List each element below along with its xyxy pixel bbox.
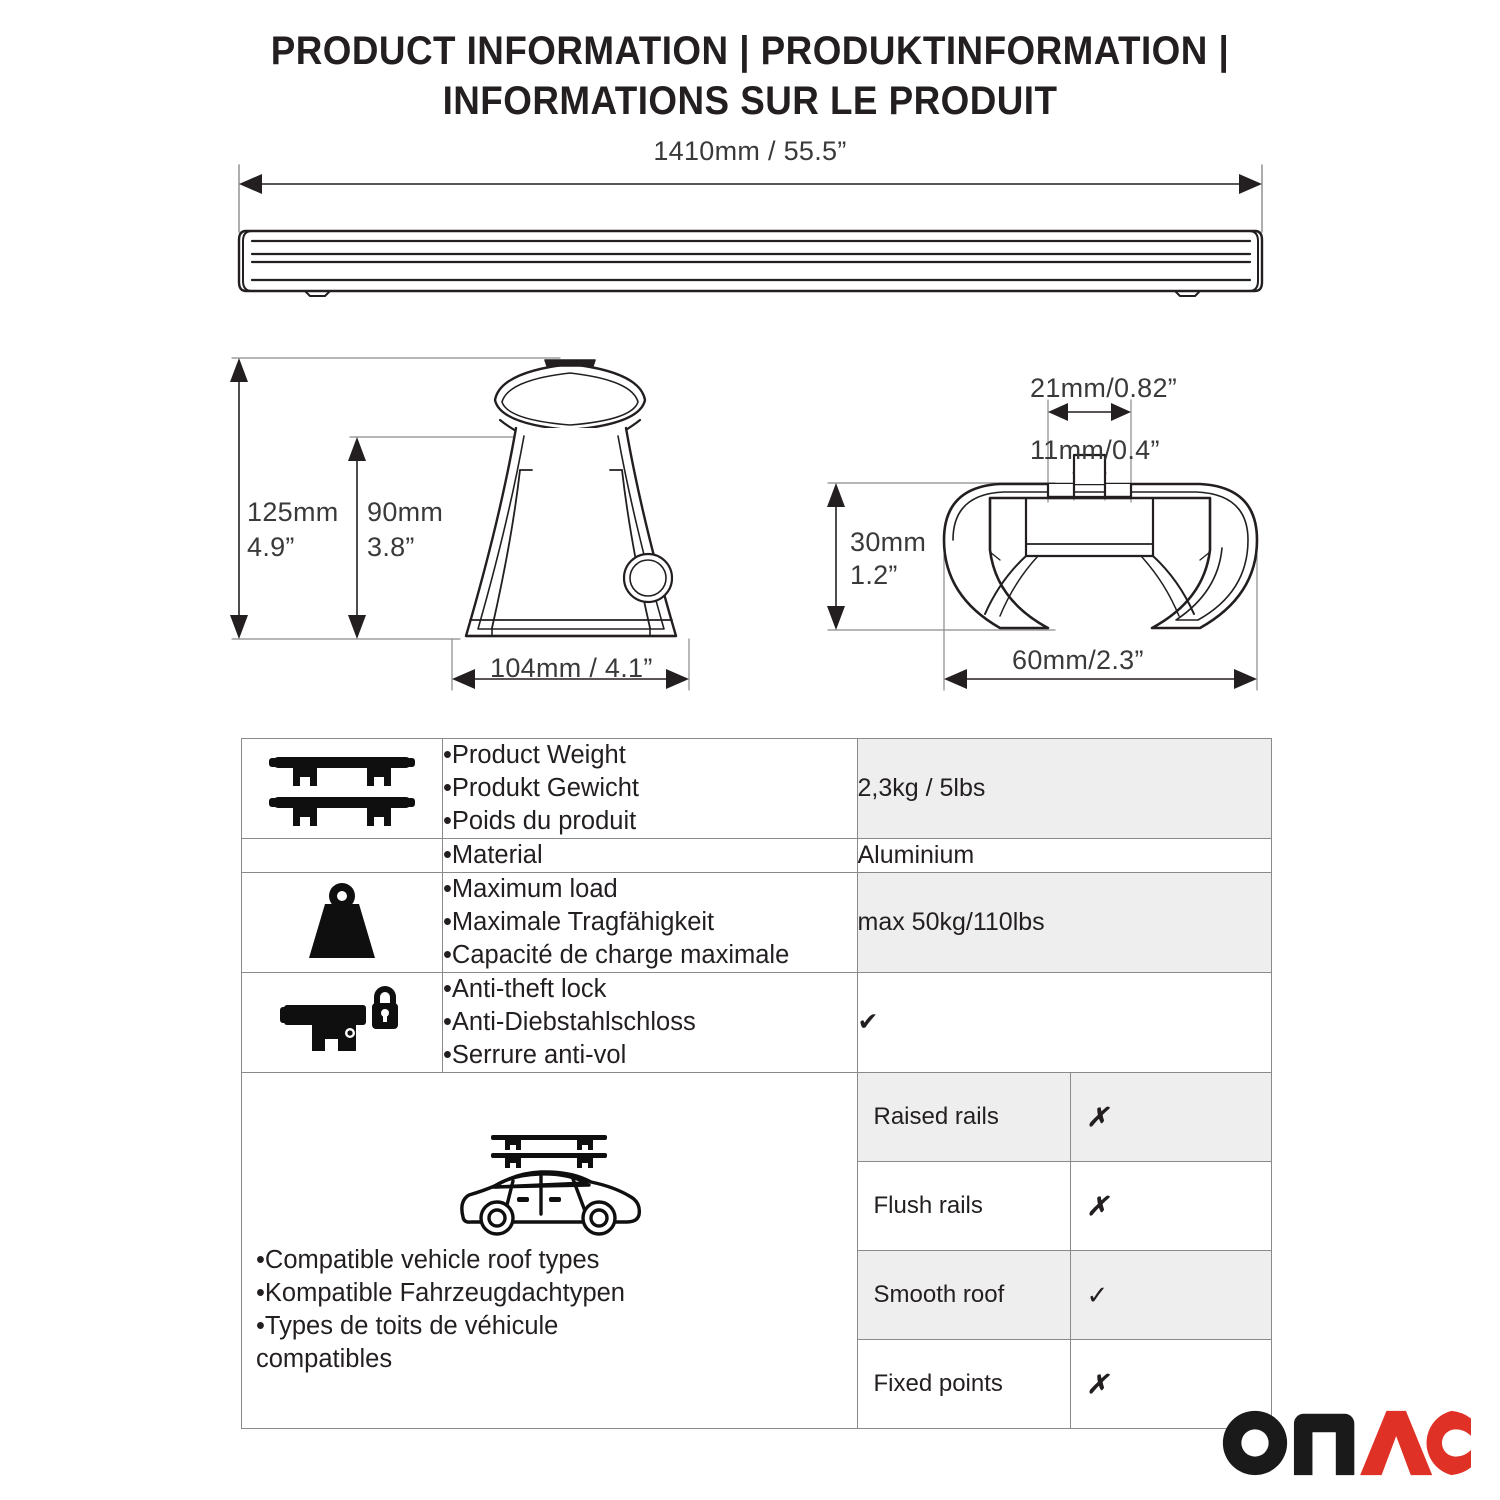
logo-letter-a	[1360, 1411, 1432, 1475]
row-value-product-weight: 2,3kg / 5lbs	[857, 739, 1272, 839]
row-labels: •Product Weight •Produkt Gewicht •Poids …	[443, 739, 857, 838]
roof-type-name: Flush rails	[858, 1162, 1071, 1251]
label-fr: •Poids du produit	[443, 805, 857, 838]
label-fr-2: compatibles	[256, 1343, 857, 1376]
label-en: •Maximum load	[443, 873, 857, 906]
row-icon-cell	[242, 739, 443, 839]
title-line-2: INFORMATIONS SUR LE PRODUIT	[60, 76, 1440, 126]
roof-type-row: Smooth roof ✓	[858, 1251, 1272, 1340]
label-de: •Produkt Gewicht	[443, 772, 857, 805]
omac-logo	[1218, 1404, 1471, 1478]
specification-table: •Product Weight •Produkt Gewicht •Poids …	[241, 738, 1272, 1429]
label-fr: •Capacité de charge maximale	[443, 939, 857, 972]
table-row: •Product Weight •Produkt Gewicht •Poids …	[242, 739, 1272, 839]
row-label-cell: •Product Weight •Produkt Gewicht •Poids …	[443, 739, 858, 839]
page-title: PRODUCT INFORMATION | PRODUKTINFORMATION…	[60, 26, 1440, 126]
roof-types-labels: •Compatible vehicle roof types •Kompatib…	[242, 1244, 857, 1376]
car-with-bars-icon	[242, 1125, 857, 1244]
weight-icon	[242, 880, 442, 966]
dim-total-height-in: 4.9”	[247, 532, 295, 563]
roof-type-mark: ✓	[1070, 1251, 1271, 1340]
row-icon-cell	[242, 873, 443, 973]
roof-type-mark: ✗	[1070, 1162, 1271, 1251]
label-en: •Material	[443, 839, 857, 872]
row-label-cell: •Maximum load •Maximale Tragfähigkeit •C…	[443, 873, 858, 973]
dim-length-label: 1410mm / 55.5”	[0, 136, 1500, 167]
label-fr-1: •Types de toits de véhicule	[256, 1310, 857, 1343]
table-row-roof-types: •Compatible vehicle roof types •Kompatib…	[242, 1073, 1272, 1429]
label-de: •Kompatible Fahrzeugdachtypen	[256, 1277, 857, 1310]
row-label-cell: •Anti-theft lock •Anti-Diebstahlschloss …	[443, 973, 858, 1073]
row-label-cell: •Material	[443, 839, 858, 873]
dim-slot-inner: 11mm/0.4”	[1030, 435, 1160, 466]
roof-bars-icon	[242, 751, 442, 827]
row-labels: •Material	[443, 839, 857, 872]
dim-bar-width: 60mm/2.3”	[1012, 645, 1144, 676]
product-information-page: PRODUCT INFORMATION | PRODUKTINFORMATION…	[0, 0, 1500, 1500]
row-value-anti-theft-lock: ✔	[857, 973, 1272, 1073]
logo-letter-c	[1427, 1411, 1472, 1475]
roof-type-mark: ✗	[1070, 1073, 1271, 1162]
row-icon-cell	[242, 973, 443, 1073]
dim-inner-height-in: 3.8”	[367, 532, 415, 563]
row-value-material: Aluminium	[857, 839, 1272, 873]
row-value-max-load: max 50kg/110lbs	[857, 873, 1272, 973]
roof-types-matrix-cell: Raised rails ✗ Flush rails ✗ Smooth roof…	[857, 1073, 1272, 1429]
table-row: •Maximum load •Maximale Tragfähigkeit •C…	[242, 873, 1272, 973]
roof-types-matrix: Raised rails ✗ Flush rails ✗ Smooth roof…	[858, 1073, 1272, 1428]
logo-letter-m	[1294, 1414, 1354, 1475]
dim-slot-outer: 21mm/0.82”	[1030, 373, 1177, 404]
label-en: •Compatible vehicle roof types	[256, 1244, 857, 1277]
roof-type-row: Flush rails ✗	[858, 1162, 1272, 1251]
row-labels: •Maximum load •Maximale Tragfähigkeit •C…	[443, 873, 857, 972]
label-fr: •Serrure anti-vol	[443, 1039, 857, 1072]
label-en: •Anti-theft lock	[443, 973, 857, 1006]
dim-total-height-mm: 125mm	[247, 497, 339, 528]
dim-inner-height-mm: 90mm	[367, 497, 443, 528]
label-de: •Anti-Diebstahlschloss	[443, 1006, 857, 1039]
roof-types-label-cell: •Compatible vehicle roof types •Kompatib…	[242, 1073, 858, 1429]
row-icon-cell	[242, 839, 443, 873]
table-row: •Material Aluminium	[242, 839, 1272, 873]
dim-bar-height-mm: 30mm	[850, 527, 926, 558]
dim-foot-width: 104mm / 4.1”	[490, 653, 653, 684]
roof-type-row: Fixed points ✗	[858, 1340, 1272, 1429]
label-de: •Maximale Tragfähigkeit	[443, 906, 857, 939]
lock-icon	[242, 983, 442, 1063]
roof-type-name: Raised rails	[858, 1073, 1071, 1162]
row-labels: •Anti-theft lock •Anti-Diebstahlschloss …	[443, 973, 857, 1072]
dim-bar-height-in: 1.2”	[850, 560, 898, 591]
table-row: •Anti-theft lock •Anti-Diebstahlschloss …	[242, 973, 1272, 1073]
roof-type-name: Fixed points	[858, 1340, 1071, 1429]
title-line-1: PRODUCT INFORMATION | PRODUKTINFORMATION…	[271, 29, 1229, 73]
roof-type-name: Smooth roof	[858, 1251, 1071, 1340]
label-en: •Product Weight	[443, 739, 857, 772]
roof-type-row: Raised rails ✗	[858, 1073, 1272, 1162]
